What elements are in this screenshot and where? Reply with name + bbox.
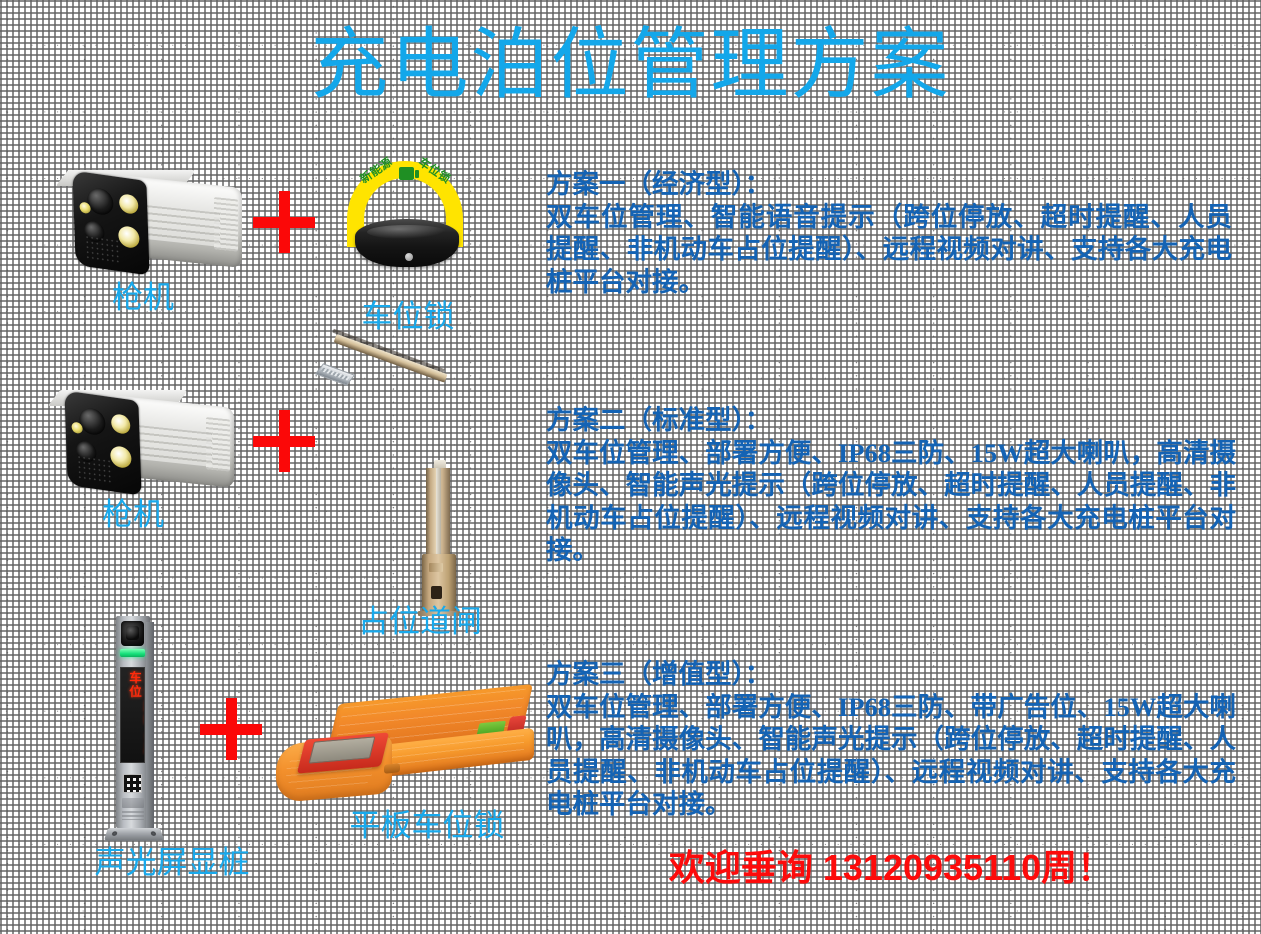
plan-2-heading: 方案二（标准型）： [546, 404, 1236, 437]
plan-2-body: 双车位管理、部署方便、IP68三防、15W超大喇叭，高清摄像头、智能声光提示（跨… [546, 437, 1236, 567]
camera-speaker-grille-icon [85, 234, 120, 263]
charging-pile-icon [399, 167, 414, 180]
plan-3-text-block: 方案三（增值型）： 双车位管理、部署方便、IP68三防、带广告位、15W超大喇叭… [546, 658, 1236, 821]
plus-symbol-row1 [253, 191, 315, 253]
camera-white-led-icon [119, 193, 139, 215]
barrier-gate-image [318, 368, 488, 618]
caption-bullet-camera-row2: 枪机 [38, 497, 228, 533]
bullet-camera-image-row2 [50, 388, 240, 498]
camera-led-lower-icon [118, 225, 140, 249]
pole-screen-text: 请勿超时占用车位 [126, 671, 145, 761]
poster-canvas: 充电泊位管理方案 枪机 新能源 车位锁 车位锁 方案一（ [0, 0, 1261, 934]
camera-front-face [72, 171, 149, 276]
camera-lens-icon [79, 407, 106, 437]
parking-lock-text-left: 新能源 [358, 156, 395, 187]
plan-2-text-block: 方案二（标准型）： 双车位管理、部署方便、IP68三防、15W超大喇叭，高清摄像… [546, 404, 1236, 567]
contact-line: 欢迎垂询 13120935110周！ [546, 846, 1236, 890]
camera-led-lower-icon [110, 445, 132, 469]
camera-lens-icon [87, 187, 114, 217]
pole-base-plate [104, 828, 164, 841]
plus-symbol-row3 [200, 698, 262, 760]
plus-symbol-row2 [253, 410, 315, 472]
caption-display-pole: 声光屏显桩 [62, 845, 282, 881]
contact-suffix: 周！ [1041, 847, 1113, 888]
parking-lock-image: 新能源 车位锁 [341, 161, 473, 273]
pole-logo [122, 798, 144, 808]
caption-parking-lock: 车位锁 [318, 299, 498, 335]
plan-1-text-block: 方案一（经济型）： 双车位管理、智能语音提示（跨位停放、超时提醒、人员提醒、非机… [546, 168, 1232, 298]
pole-camera-icon [121, 621, 144, 646]
flat-lock-hinge [384, 763, 400, 774]
page-title: 充电泊位管理方案 [0, 18, 1261, 110]
pole-logo-secondary [122, 811, 144, 820]
audio-visual-display-pole-image: 请勿超时占用车位 [98, 608, 172, 848]
caption-flat-parking-lock: 平板车位锁 [322, 808, 532, 844]
parking-lock-indicator-icon [405, 253, 413, 261]
plan-3-body: 双车位管理、部署方便、IP68三防、带广告位、15W超大喇叭，高清摄像头、智能声… [546, 691, 1236, 821]
pole-side-edge [146, 622, 154, 828]
plan-1-body: 双车位管理、智能语音提示（跨位停放、超时提醒、人员提醒、非机动车占位提醒）、远程… [546, 201, 1232, 299]
contact-phone[interactable]: 13120935110 [823, 847, 1041, 888]
camera-speaker-grille-icon [77, 454, 112, 483]
camera-white-led-icon [111, 413, 131, 435]
camera-front-face [64, 391, 141, 496]
pole-status-indicator-icon [120, 649, 145, 657]
gate-led-panel [315, 363, 355, 385]
parking-lock-base [355, 219, 459, 267]
plan-3-heading: 方案三（增值型）： [546, 658, 1236, 691]
parking-lock-text-right: 车位锁 [415, 156, 452, 187]
caption-bullet-camera-row1: 枪机 [48, 280, 238, 316]
contact-prefix: 欢迎垂询 [669, 847, 813, 888]
plan-1-heading: 方案一（经济型）： [546, 168, 1232, 201]
flat-parking-lock-image [272, 688, 542, 808]
caption-barrier-gate: 占位道闸 [325, 604, 515, 640]
pole-led-screen: 请勿超时占用车位 [120, 667, 145, 763]
pole-qr-code-icon [123, 774, 142, 793]
bullet-camera-image-row1 [58, 168, 248, 278]
